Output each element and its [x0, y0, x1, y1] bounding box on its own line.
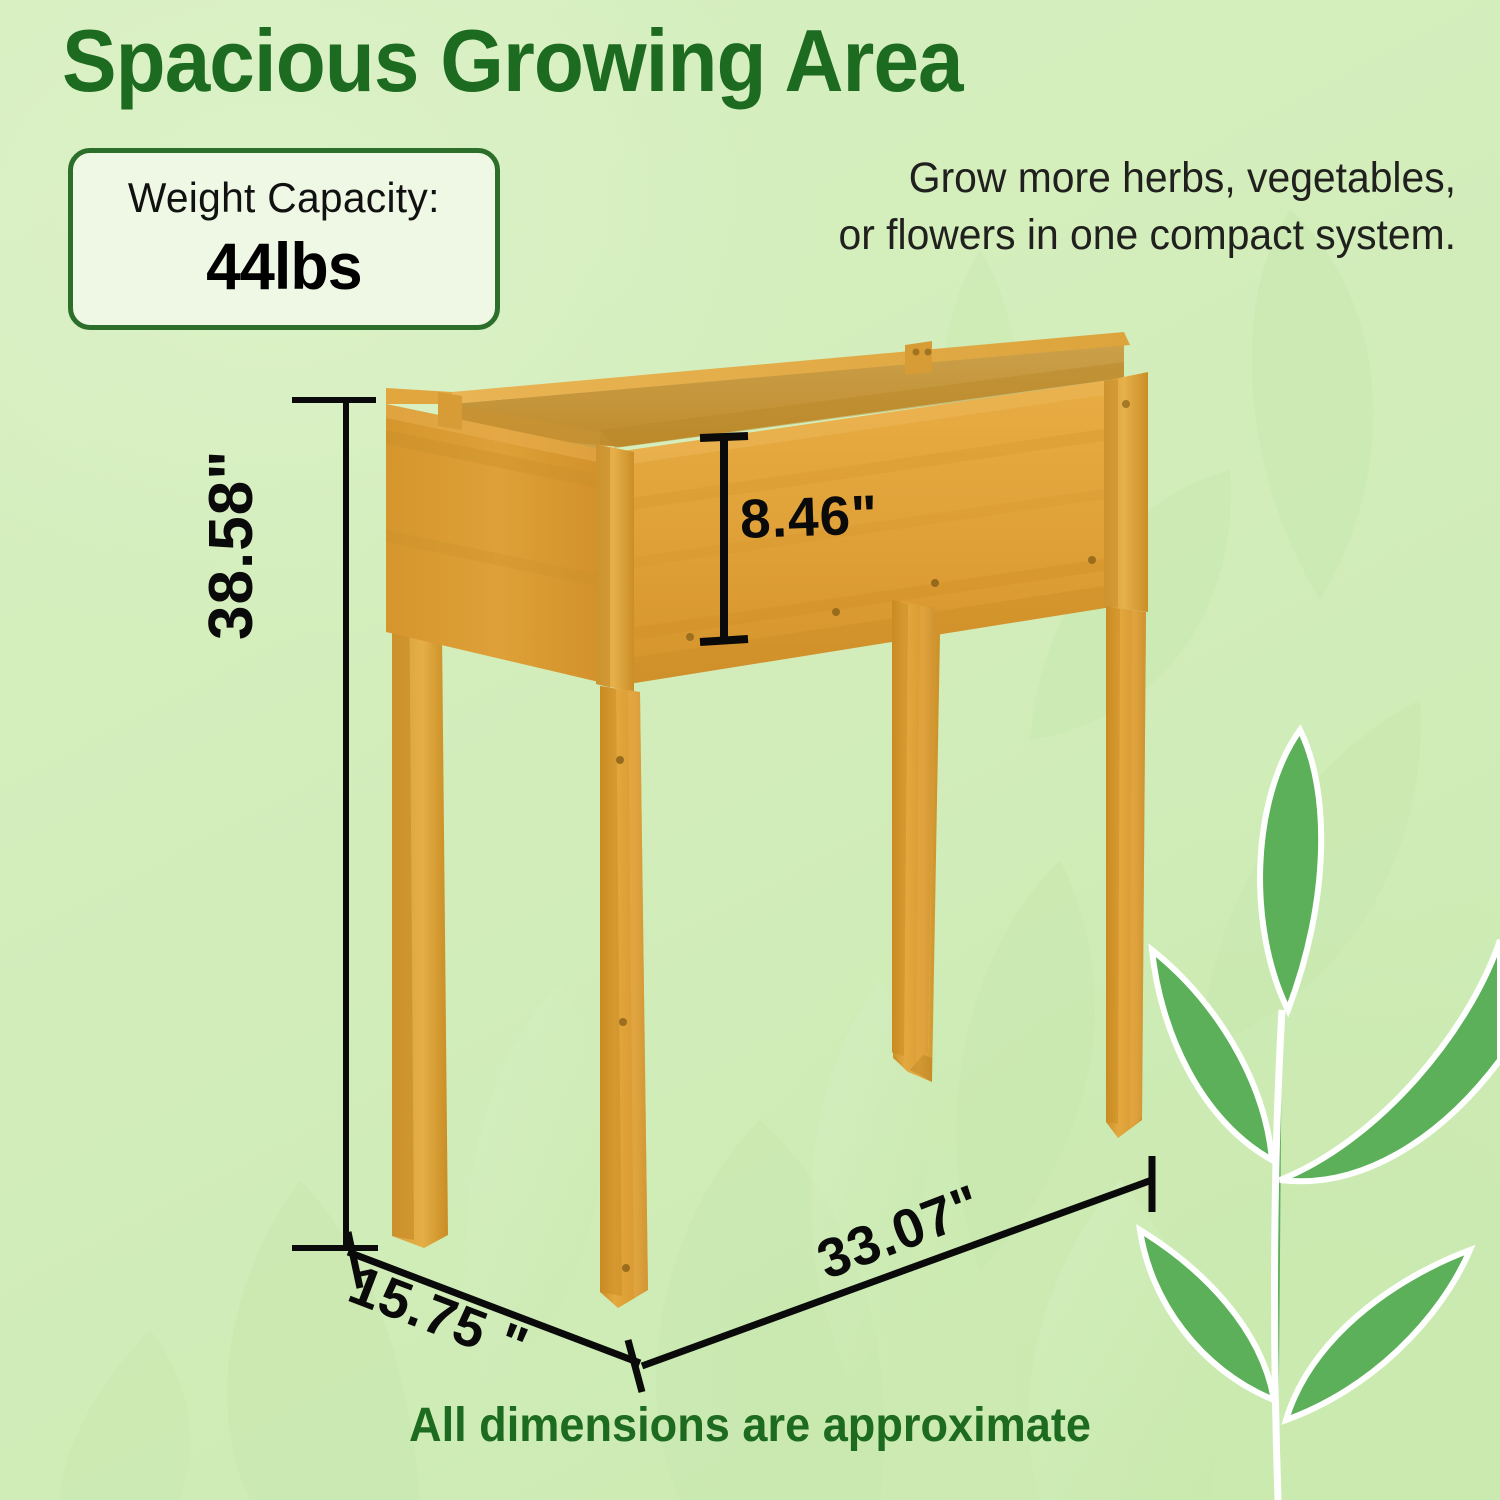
corner-post-front-left — [596, 444, 634, 692]
page-title: Spacious Growing Area — [62, 16, 1364, 106]
corner-post-back-right — [905, 341, 932, 375]
weight-capacity-badge: Weight Capacity: 44lbs — [68, 148, 500, 330]
corner-post-back-left — [438, 392, 462, 430]
approximate-dimensions-note: All dimensions are approximate — [45, 1398, 1455, 1453]
leg-center-back — [892, 600, 935, 1072]
leg-front-right — [1106, 606, 1146, 1138]
dimension-label-height: 38.58" — [196, 449, 267, 640]
decorative-plant-sprig — [1140, 730, 1500, 1500]
infographic-canvas: Spacious Growing Area Grow more herbs, v… — [0, 0, 1500, 1500]
dimension-label-interior-depth: 8.46" — [739, 482, 879, 551]
weight-capacity-label: Weight Capacity: — [128, 174, 440, 222]
leg-front-left — [600, 686, 648, 1308]
dimension-line-height — [292, 400, 378, 1248]
corner-post-front-right — [1104, 372, 1148, 612]
subtitle-line-2: or flowers in one compact system. — [601, 207, 1456, 264]
subtitle-block: Grow more herbs, vegetables, or flowers … — [601, 150, 1456, 264]
weight-capacity-value: 44lbs — [206, 228, 362, 304]
subtitle-line-1: Grow more herbs, vegetables, — [601, 150, 1456, 207]
